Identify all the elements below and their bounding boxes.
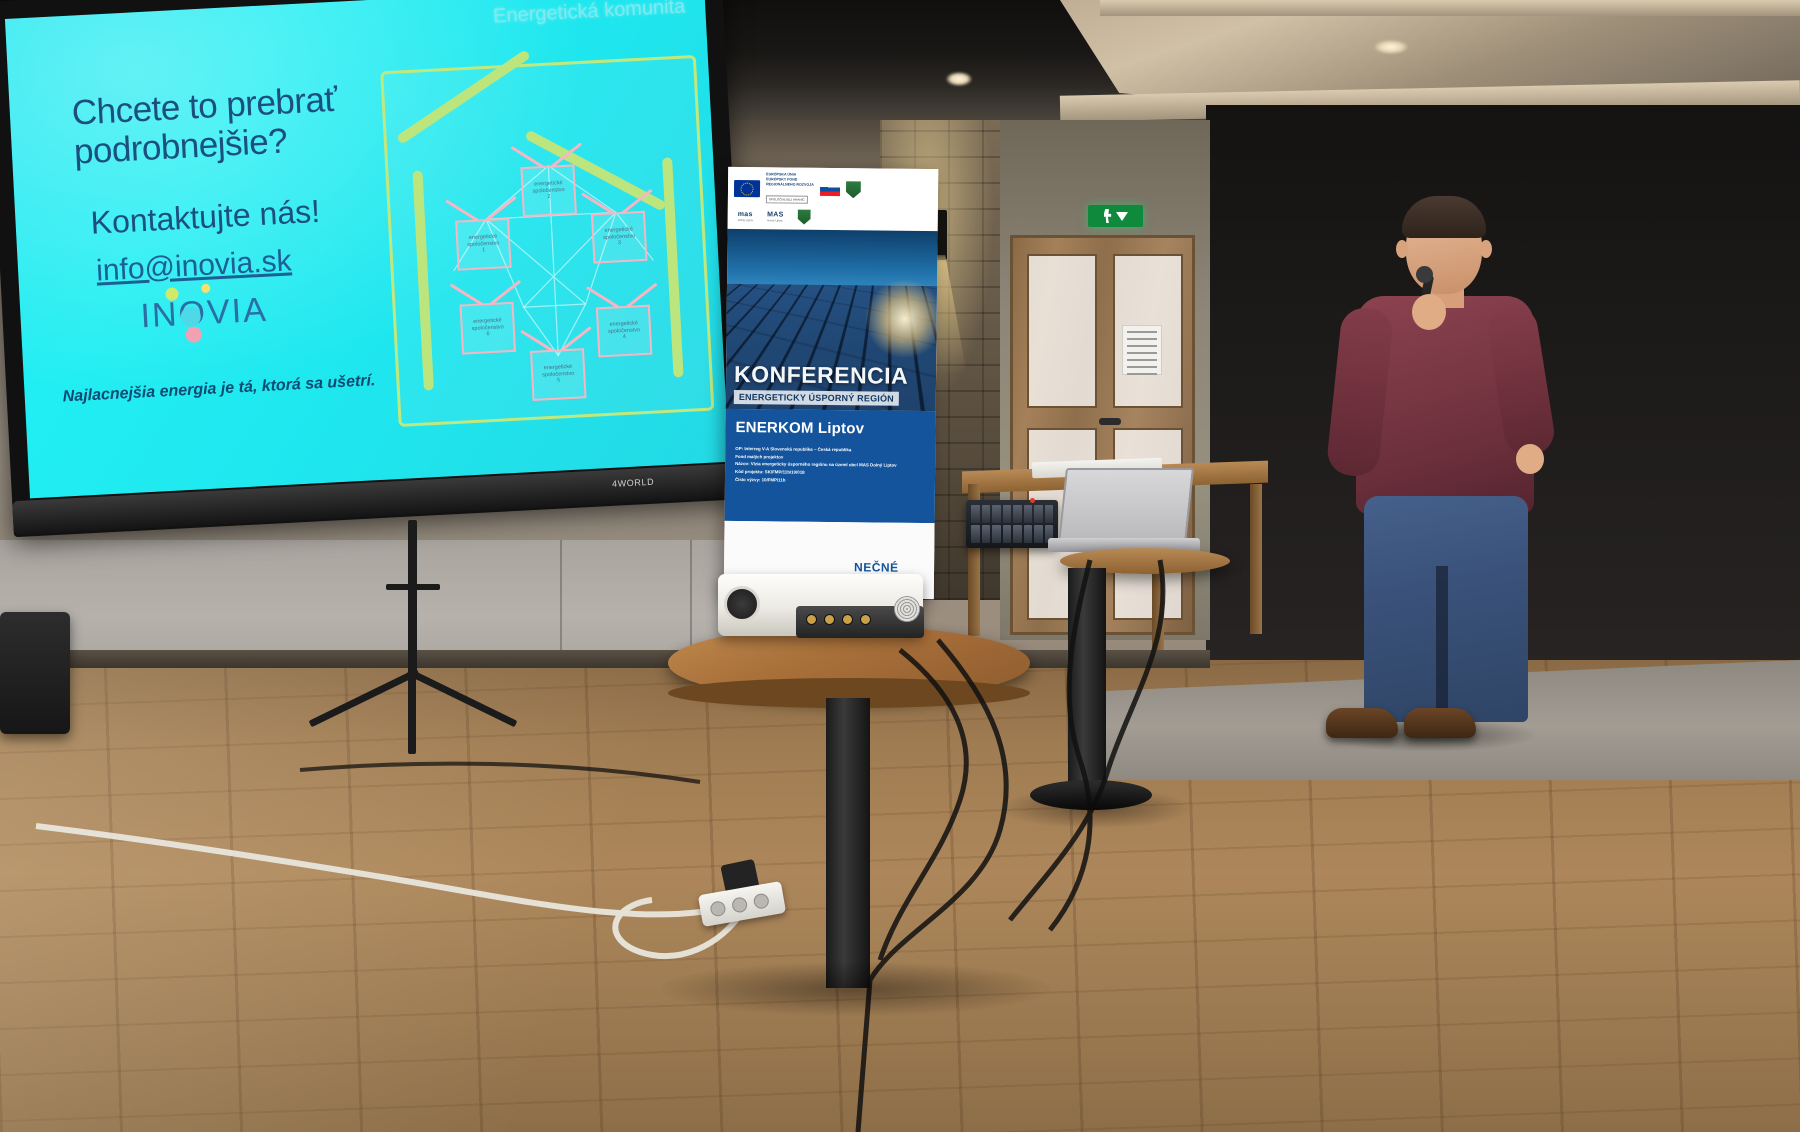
eu-line3: REGIONÁLNEHO ROZVOJA (766, 182, 814, 187)
banner-title-block: KONFERENCIA ENERGETICKY ÚSPORNÝ REGIÓN (726, 357, 937, 413)
presenter-shoe-left (1326, 708, 1398, 738)
mas-logo-sub: Dolný Liptov (738, 218, 753, 222)
banner-logo-strip: EURÓPSKA ÚNIA EURÓPSKY FOND REGIONÁLNEHO… (728, 167, 939, 231)
slovak-flag-icon (820, 183, 840, 196)
house-body: energetické spoločenstvo 6 (459, 302, 516, 355)
running-man-icon (1104, 209, 1113, 223)
door-panel (1027, 254, 1097, 408)
inovia-logo: INOVIA (140, 291, 269, 337)
mas2-logo: MAS Horný Liptov (767, 211, 784, 222)
community-node-2: energetické spoločenstvo 2 (515, 142, 581, 219)
mas2-logo-text: MAS (767, 211, 784, 218)
mas-logo-text: mas (738, 211, 753, 218)
presenter (1320, 196, 1570, 756)
table-shadow (660, 962, 1050, 1016)
projector[interactable] (718, 570, 936, 648)
port-icon[interactable] (824, 614, 835, 625)
eu-flag-icon (734, 180, 760, 197)
port-icon[interactable] (860, 614, 871, 625)
table-shadow (1000, 788, 1190, 828)
banner-project-block: ENERKOM Liptov OP: Interreg V-A Slovensk… (725, 409, 936, 523)
mas2-logo-sub: Horný Liptov (767, 218, 784, 222)
port-icon[interactable] (842, 614, 853, 625)
presenter-ear (1480, 240, 1492, 258)
banner-subtitle: ENERGETICKY ÚSPORNÝ REGIÓN (734, 390, 899, 406)
wall-notice (1122, 325, 1162, 375)
presenter-shoe-right (1404, 708, 1476, 738)
eu-text-block: EURÓPSKA ÚNIA EURÓPSKY FOND REGIONÁLNEHO… (766, 173, 814, 206)
mixer-power-led-icon (1030, 498, 1035, 503)
downlight-icon (946, 72, 972, 86)
projector-vent-icon (894, 596, 920, 622)
node-number: 1 (482, 248, 485, 255)
presenter-ear (1396, 240, 1408, 258)
banner-project-name: ENERKOM Liptov (735, 419, 925, 438)
loudspeaker (0, 612, 70, 734)
region-crest-icon (846, 181, 861, 198)
screen-tripod (290, 520, 560, 760)
banner-partner-row: mas Dolný Liptov MAS Horný Liptov (734, 209, 932, 226)
ceiling-beam (1100, 0, 1800, 16)
round-table-projector (668, 626, 1030, 986)
inovia-logo-text: INOVIA (140, 291, 269, 337)
node-number: 5 (557, 378, 560, 385)
microphone-head-icon (1416, 266, 1433, 283)
rollup-banner: EURÓPSKA ÚNIA EURÓPSKY FOND REGIONÁLNEHO… (724, 167, 938, 599)
arrow-down-icon (1116, 212, 1128, 221)
photo-scene: Energetická komunita Chcete to prebrať p… (0, 0, 1800, 1132)
audio-mixer[interactable] (966, 500, 1058, 548)
house-body: energetické spoločenstvo 5 (530, 348, 587, 401)
banner-title: KONFERENCIA (734, 363, 928, 388)
slide-content: Energetická komunita Chcete to prebrať p… (5, 0, 729, 498)
node-number: 6 (486, 332, 489, 339)
node-number: 2 (547, 194, 550, 201)
downlight-icon (1374, 40, 1408, 54)
desk-leg (1250, 484, 1262, 634)
presenter-hand-left (1412, 294, 1446, 330)
banner-fineprint: OP: Interreg V-A Slovenská republika – Č… (735, 445, 925, 486)
projection-screen: Energetická komunita Chcete to prebrať p… (0, 0, 754, 546)
round-table-laptop (1012, 548, 1222, 818)
table-post (1068, 568, 1106, 786)
eu-tagline: SPOLOČNE BEZ HRANÍC (766, 195, 808, 203)
town-crest-icon (798, 209, 811, 224)
exit-sign (1088, 205, 1143, 227)
table-post (826, 698, 870, 988)
node-number: 3 (618, 241, 621, 248)
node-number: 4 (623, 334, 626, 341)
community-node-5: energetické spoločenstvo 5 (525, 326, 591, 403)
community-node-6: energetické spoločenstvo 6 (454, 280, 520, 357)
community-node-4: energetické spoločenstvo 4 (591, 282, 657, 359)
mas-logo: mas Dolný Liptov (738, 211, 754, 222)
house-body: energetické spoločenstvo 1 (455, 218, 512, 271)
port-icon[interactable] (806, 614, 817, 625)
community-node-1: energetické spoločenstvo 1 (450, 196, 516, 273)
house-body: energetické spoločenstvo 3 (591, 211, 648, 264)
presenter-legs-gap (1436, 566, 1448, 724)
fineprint-line: Číslo výzvy: 10/FMP/11b (735, 476, 925, 486)
presenter-hand-right (1516, 444, 1544, 474)
door-handle[interactable] (1099, 418, 1121, 425)
laptop[interactable] (1048, 468, 1198, 560)
community-node-3: energetické spoločenstvo 3 (586, 189, 652, 266)
energy-community-diagram: energetické spoločenstvo 2 energetické s… (380, 55, 714, 427)
laptop-screen (1058, 468, 1194, 544)
banner-eu-row: EURÓPSKA ÚNIA EURÓPSKY FOND REGIONÁLNEHO… (734, 172, 932, 207)
house-body: energetické spoločenstvo 4 (596, 305, 653, 358)
house-body: energetické spoločenstvo 2 (520, 164, 577, 217)
presenter-hair (1402, 196, 1486, 238)
projector-lens-icon (724, 586, 760, 622)
